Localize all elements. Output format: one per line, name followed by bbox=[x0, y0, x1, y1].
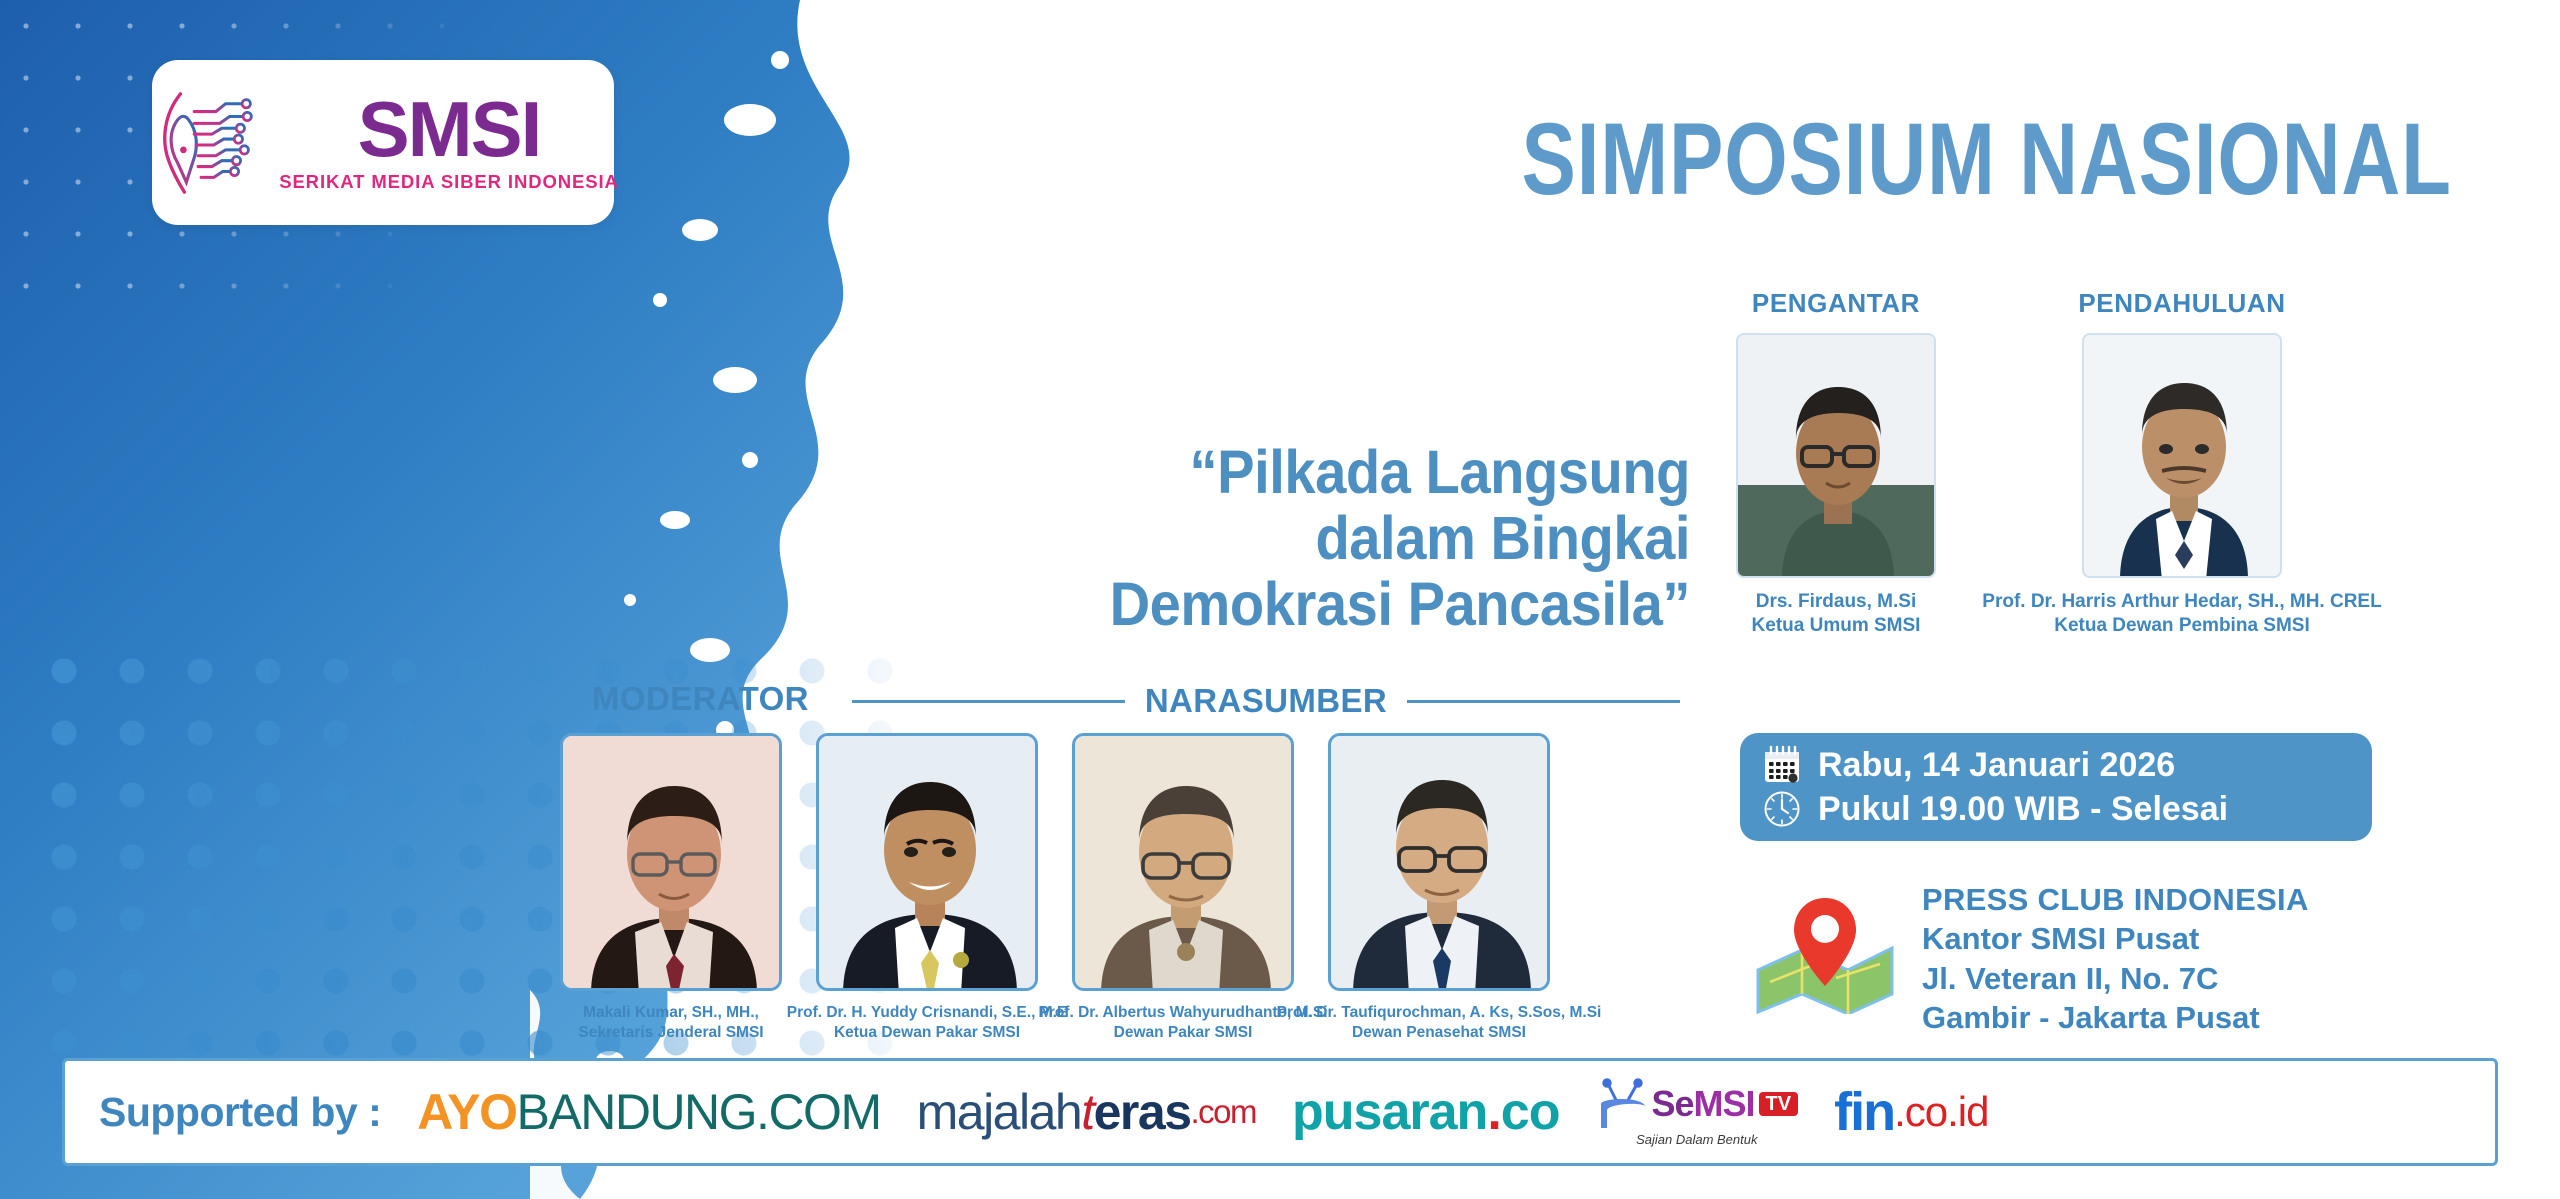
narasumber-section-header: NARASUMBER bbox=[852, 682, 1680, 720]
sponsor-logo-semsitv[interactable]: SeMSI TV Sajian Dalam Bentuk bbox=[1595, 1078, 1798, 1146]
venue-city: Gambir - Jakarta Pusat bbox=[1922, 998, 2309, 1037]
panel-position: Sekretaris Jenderal SMSI bbox=[578, 1023, 763, 1043]
speaker-role-label: PENGANTAR bbox=[1752, 288, 1920, 319]
venue-office: Kantor SMSI Pusat bbox=[1922, 919, 2309, 958]
panel-card-moderator: Makali Kumar, SH., MH., Sekretaris Jende… bbox=[560, 733, 782, 1043]
pusaran-dot: . bbox=[1487, 1082, 1500, 1142]
panel-card-speaker-1: Prof. Dr. H. Yuddy Crisnandi, S.E., M.E … bbox=[816, 733, 1038, 1043]
venue-name: PRESS CLUB INDONESIA bbox=[1922, 880, 2309, 919]
sponsor-logo-ayobandung[interactable]: AYOBANDUNG.COM bbox=[417, 1083, 880, 1141]
speaker-name: Drs. Firdaus, M.Si bbox=[1752, 590, 1921, 614]
speaker-position: Ketua Umum SMSI bbox=[1752, 614, 1921, 638]
speaker-name: Prof. Dr. Harris Arthur Hedar, SH., MH. … bbox=[1982, 590, 2381, 614]
theme-line-1: “Pilkada Langsung bbox=[1046, 440, 1690, 506]
majalahteras-part-1: majalah bbox=[917, 1083, 1082, 1141]
panel-speakers: Makali Kumar, SH., MH., Sekretaris Jende… bbox=[560, 733, 1720, 1043]
narasumber-section-label: NARASUMBER bbox=[1145, 682, 1387, 720]
majalahteras-part-4: .com bbox=[1191, 1093, 1257, 1131]
sponsor-logo-majalahteras[interactable]: majalahteras.com bbox=[917, 1083, 1256, 1141]
ayobandung-part-1: AYO bbox=[417, 1083, 516, 1141]
sponsor-bar: Supported by : AYOBANDUNG.COM majalahter… bbox=[62, 1058, 2498, 1166]
majalahteras-part-2: t bbox=[1081, 1083, 1093, 1141]
portrait-makali-kumar bbox=[560, 733, 782, 991]
panel-position: Ketua Dewan Pakar SMSI bbox=[787, 1023, 1068, 1043]
event-time: Pukul 19.00 WIB - Selesai bbox=[1818, 790, 2228, 829]
event-location: PRESS CLUB INDONESIA Kantor SMSI Pusat J… bbox=[1750, 880, 2490, 1037]
location-text-block: PRESS CLUB INDONESIA Kantor SMSI Pusat J… bbox=[1922, 880, 2309, 1037]
map-pin-icon bbox=[1750, 886, 1900, 1014]
portrait-harris-arthur-hedar bbox=[2082, 333, 2282, 578]
panel-name: Makali Kumar, SH., MH., bbox=[578, 1003, 763, 1023]
divider-left bbox=[852, 700, 1125, 703]
clock-icon bbox=[1762, 789, 1802, 829]
supported-by-label: Supported by : bbox=[99, 1089, 381, 1136]
theme-line-2: dalam Bingkai bbox=[1046, 506, 1690, 572]
speaker-card-pengantar: PENGANTAR Drs. Firdaus, M.Si Ketua bbox=[1736, 288, 1936, 638]
pusaran-part-3: co bbox=[1501, 1082, 1560, 1142]
portrait-taufiqurochman bbox=[1328, 733, 1550, 991]
speaker-name-block: Drs. Firdaus, M.Si Ketua Umum SMSI bbox=[1752, 590, 1921, 638]
panel-name: Prof. Dr. H. Yuddy Crisnandi, S.E., M.E bbox=[787, 1003, 1068, 1023]
moderator-section-label: MODERATOR bbox=[592, 680, 809, 718]
portrait-firdaus bbox=[1736, 333, 1936, 578]
portrait-yuddy-crisnandi bbox=[816, 733, 1038, 991]
calendar-icon bbox=[1762, 745, 1802, 785]
portrait-albertus-wahyurudhanto bbox=[1072, 733, 1294, 991]
ayobandung-part-2: BANDUNG.COM bbox=[517, 1083, 881, 1141]
speaker-card-pendahuluan: PENDAHULUAN Prof. Dr. Harris Art bbox=[2082, 288, 2282, 638]
event-theme: “Pilkada Langsung dalam Bingkai Demokras… bbox=[1046, 440, 1690, 638]
speaker-position: Ketua Dewan Pembina SMSI bbox=[1982, 614, 2381, 638]
logo-wordmark: SMSI bbox=[358, 92, 541, 166]
theme-line-3: Demokrasi Pancasila” bbox=[1046, 572, 1690, 638]
event-datetime-box: Rabu, 14 Januari 2026 Pukul 19.00 WIB - … bbox=[1740, 733, 2372, 841]
semsitv-part-2: MSI bbox=[1694, 1086, 1755, 1122]
panel-name-block: Prof. Dr. H. Yuddy Crisnandi, S.E., M.E … bbox=[787, 1003, 1068, 1043]
page-title: SIMPOSIUM NASIONAL bbox=[1522, 108, 2452, 210]
smsi-logo: SMSI SERIKAT MEDIA SIBER INDONESIA bbox=[152, 60, 614, 225]
sponsor-logo-pusaran[interactable]: pusaran.co bbox=[1292, 1082, 1559, 1142]
event-date-row: Rabu, 14 Januari 2026 bbox=[1762, 745, 2350, 785]
tv-antenna-icon bbox=[1595, 1078, 1649, 1130]
semsitv-tv-badge: TV bbox=[1759, 1092, 1799, 1116]
logo-tagline: SERIKAT MEDIA SIBER INDONESIA bbox=[279, 171, 619, 193]
featured-speakers: PENGANTAR Drs. Firdaus, M.Si Ketua bbox=[1736, 288, 2436, 638]
panel-card-speaker-2: Prof. Dr. Albertus Wahyurudhanto, M.Si D… bbox=[1072, 733, 1294, 1043]
pusaran-part-1: pusaran bbox=[1292, 1082, 1487, 1142]
event-time-row: Pukul 19.00 WIB - Selesai bbox=[1762, 789, 2350, 829]
panel-card-speaker-3: Prof. Dr. Taufiqurochman, A. Ks, S.Sos, … bbox=[1328, 733, 1550, 1043]
divider-right bbox=[1407, 700, 1680, 703]
venue-street: Jl. Veteran II, No. 7C bbox=[1922, 959, 2309, 998]
fin-part-1: fin bbox=[1834, 1081, 1894, 1143]
panel-name-block: Prof. Dr. Taufiqurochman, A. Ks, S.Sos, … bbox=[1277, 1003, 1602, 1043]
panel-name: Prof. Dr. Taufiqurochman, A. Ks, S.Sos, … bbox=[1277, 1003, 1602, 1023]
pen-circuit-icon bbox=[147, 88, 265, 198]
speaker-role-label: PENDAHULUAN bbox=[2078, 288, 2285, 319]
event-date: Rabu, 14 Januari 2026 bbox=[1818, 746, 2175, 785]
majalahteras-part-3: eras bbox=[1094, 1083, 1191, 1141]
event-banner: SMSI SERIKAT MEDIA SIBER INDONESIA SIMPO… bbox=[0, 0, 2560, 1199]
sponsor-logo-fin[interactable]: fin.co.id bbox=[1834, 1081, 1988, 1143]
panel-name-block: Makali Kumar, SH., MH., Sekretaris Jende… bbox=[578, 1003, 763, 1043]
speaker-name-block: Prof. Dr. Harris Arthur Hedar, SH., MH. … bbox=[1982, 590, 2381, 638]
panel-position: Dewan Penasehat SMSI bbox=[1277, 1023, 1602, 1043]
semsitv-part-1: Se bbox=[1651, 1086, 1693, 1122]
fin-part-2: .co.id bbox=[1894, 1088, 1988, 1136]
semsitv-tagline: Sajian Dalam Bentuk bbox=[1636, 1133, 1757, 1146]
